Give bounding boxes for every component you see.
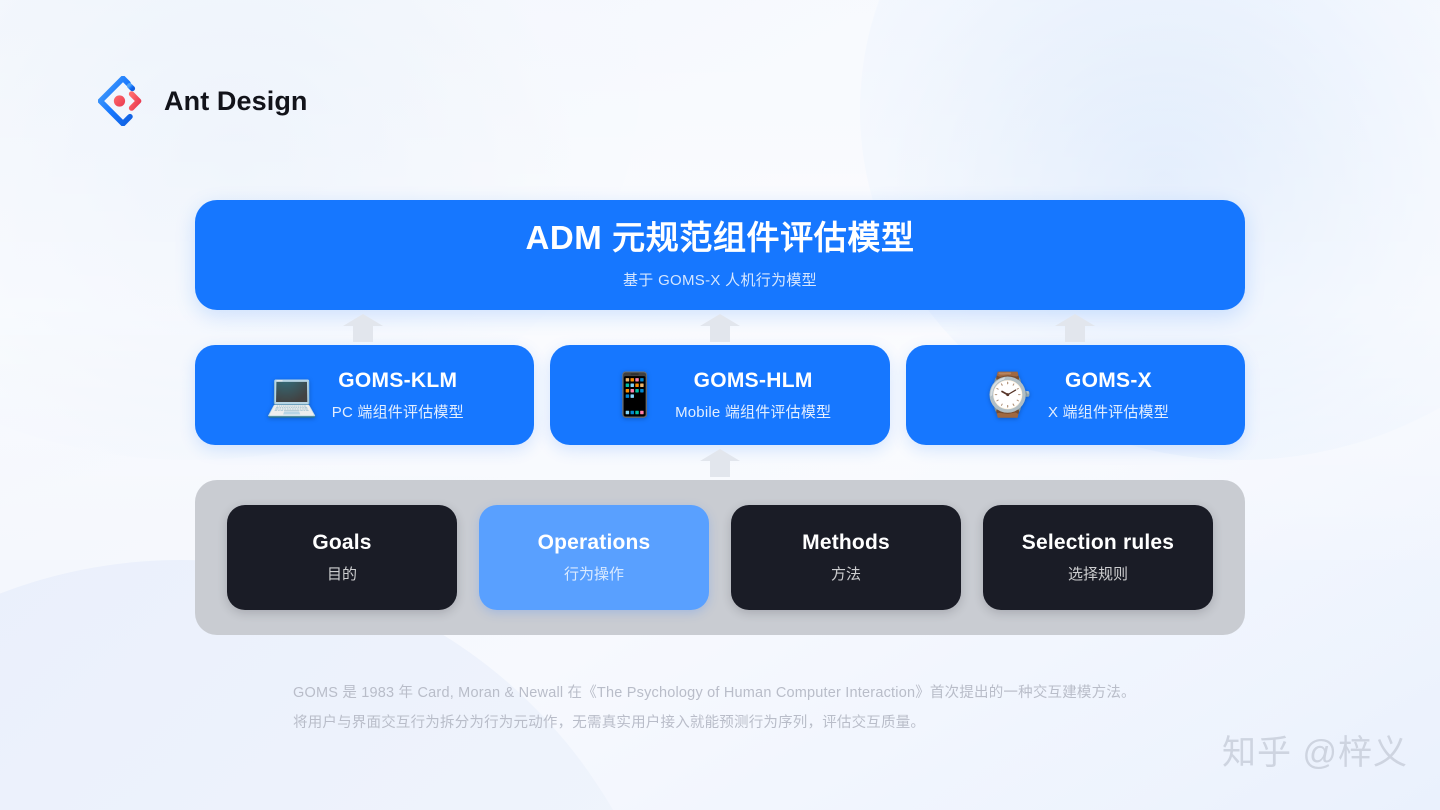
- watermark: 知乎 @梓义: [1222, 725, 1408, 774]
- goms-title-selection-rules: Selection rules: [1022, 531, 1174, 555]
- goms-card-selection-rules[interactable]: Selection rules 选择规则: [983, 505, 1213, 610]
- goms-title-methods: Methods: [802, 531, 890, 555]
- model-subtitle-goms-hlm: Mobile 端组件评估模型: [675, 401, 831, 422]
- arrow-up-icon-klm: [342, 313, 384, 343]
- footnote: GOMS 是 1983 年 Card, Moran & Newall 在《The…: [293, 678, 1193, 738]
- adm-banner: ADM 元规范组件评估模型 基于 GOMS-X 人机行为模型: [195, 200, 1245, 310]
- model-card-row: 💻 GOMS-KLM PC 端组件评估模型 📱 GOMS-HLM Mobile …: [195, 345, 1245, 445]
- model-subtitle-goms-x: X 端组件评估模型: [1048, 401, 1169, 422]
- watch-icon: ⌚: [982, 374, 1034, 416]
- goms-subtitle-operations: 行为操作: [564, 563, 624, 584]
- model-card-goms-klm[interactable]: 💻 GOMS-KLM PC 端组件评估模型: [195, 345, 534, 445]
- goms-subtitle-selection-rules: 选择规则: [1068, 563, 1128, 584]
- mobile-phone-icon: 📱: [609, 374, 661, 416]
- goms-subtitle-methods: 方法: [831, 563, 861, 584]
- laptop-icon: 💻: [266, 374, 318, 416]
- banner-subtitle: 基于 GOMS-X 人机行为模型: [623, 269, 817, 290]
- goms-title-goals: Goals: [312, 531, 371, 555]
- arrow-up-icon-goms: [699, 448, 741, 478]
- banner-title: ADM 元规范组件评估模型: [525, 220, 914, 256]
- goms-subtitle-goals: 目的: [327, 563, 357, 584]
- brand-name: Ant Design: [164, 86, 308, 117]
- goms-card-methods[interactable]: Methods 方法: [731, 505, 961, 610]
- goms-card-operations[interactable]: Operations 行为操作: [479, 505, 709, 610]
- arrow-up-icon-x: [1054, 313, 1096, 343]
- model-title-goms-hlm: GOMS-HLM: [694, 368, 813, 394]
- goms-card-goals[interactable]: Goals 目的: [227, 505, 457, 610]
- model-card-goms-x[interactable]: ⌚ GOMS-X X 端组件评估模型: [906, 345, 1245, 445]
- model-card-goms-hlm[interactable]: 📱 GOMS-HLM Mobile 端组件评估模型: [550, 345, 889, 445]
- goms-title-operations: Operations: [538, 531, 651, 555]
- ant-design-logo-icon: [98, 76, 148, 126]
- diagram-stage: ADM 元规范组件评估模型 基于 GOMS-X 人机行为模型 💻 GOMS-KL…: [195, 200, 1245, 635]
- arrow-row-top: [195, 310, 1245, 345]
- brand-lockup: Ant Design: [98, 76, 308, 126]
- model-title-goms-klm: GOMS-KLM: [338, 368, 457, 394]
- footnote-line-2: 将用户与界面交互行为拆分为行为元动作，无需真实用户接入就能预测行为序列，评估交互…: [293, 708, 1193, 738]
- arrow-up-icon-hlm: [699, 313, 741, 343]
- footnote-line-1: GOMS 是 1983 年 Card, Moran & Newall 在《The…: [293, 678, 1193, 708]
- model-subtitle-goms-klm: PC 端组件评估模型: [332, 401, 464, 422]
- goms-panel: Goals 目的 Operations 行为操作 Methods 方法 Sele…: [195, 480, 1245, 635]
- model-title-goms-x: GOMS-X: [1065, 368, 1152, 394]
- arrow-row-middle: [195, 445, 1245, 480]
